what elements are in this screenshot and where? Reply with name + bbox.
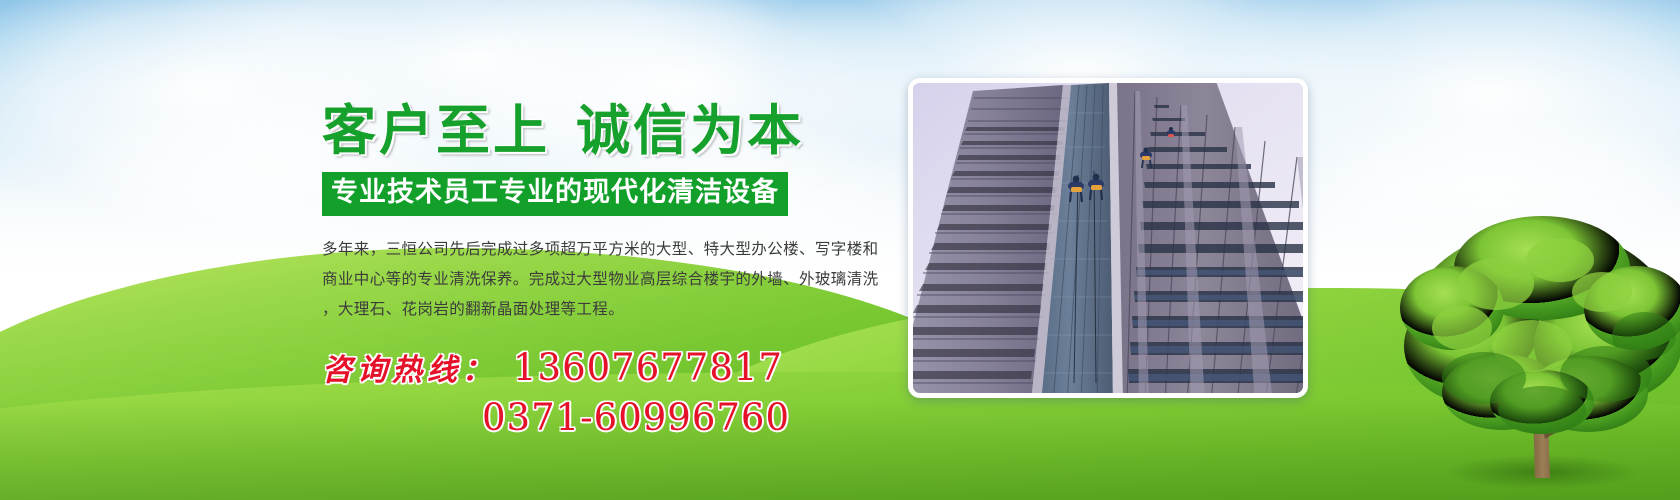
body-paragraph: 多年来，三恒公司先后完成过多项超万平方米的大型、特大型办公楼、写字楼和 商业中心… <box>322 234 882 325</box>
hotline-landline-number[interactable]: 0371-60996760 <box>482 396 790 439</box>
headline-part-1: 客户至上 <box>322 98 550 162</box>
hotline-row-primary: 咨询热线：13607677817 <box>322 346 902 390</box>
banner-copy: 客户至上诚信为本 专业技术员工专业的现代化清洁设备 多年来，三恒公司先后完成过多… <box>322 100 902 440</box>
hotline-row-secondary: 0371-60996760 <box>322 396 902 440</box>
body-line-1: 多年来，三恒公司先后完成过多项超万平方米的大型、特大型办公楼、写字楼和 <box>322 234 882 264</box>
hotline-block: 咨询热线：13607677817 0371-60996760 <box>322 346 902 439</box>
building-photo-frame[interactable] <box>908 78 1308 398</box>
hotline-mobile-number[interactable]: 13607677817 <box>513 346 783 389</box>
subtitle-banner: 专业技术员工专业的现代化清洁设备 <box>322 172 788 215</box>
body-line-3: ，大理石、花岗岩的翻新晶面处理等工程。 <box>322 294 882 324</box>
cloud-shape <box>1260 110 1680 260</box>
headline-part-2: 诚信为本 <box>576 98 804 162</box>
headline: 客户至上诚信为本 <box>322 100 902 160</box>
hotline-label: 咨询热线： <box>322 353 497 388</box>
tree-illustration <box>1392 196 1680 496</box>
high-rise-window-cleaning-photo <box>913 83 1303 393</box>
body-line-2: 商业中心等的专业清洗保养。完成过大型物业高层综合楼宇的外墙、外玻璃清洗 <box>322 264 882 294</box>
hero-banner: 客户至上诚信为本 专业技术员工专业的现代化清洁设备 多年来，三恒公司先后完成过多… <box>0 0 1680 500</box>
